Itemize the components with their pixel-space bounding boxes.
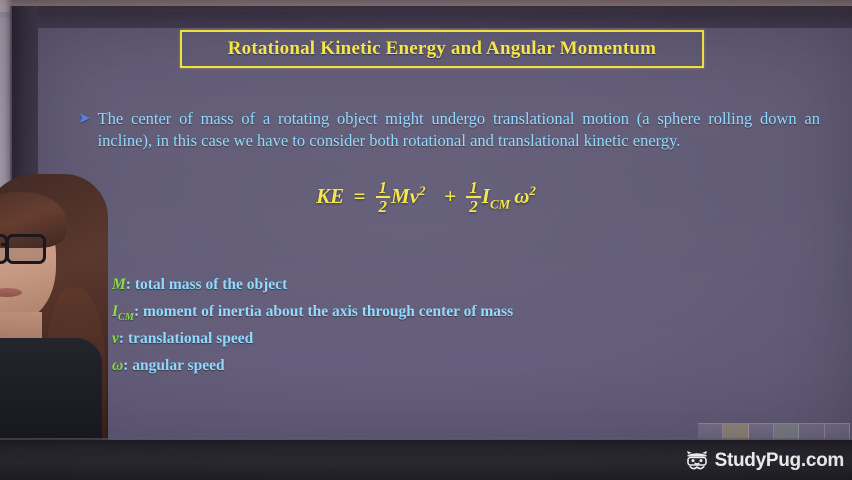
definition-separator: : bbox=[123, 357, 128, 374]
definition-separator: : bbox=[126, 276, 131, 293]
definition-description: total mass of the object bbox=[135, 276, 287, 293]
formula-lhs: KE bbox=[316, 184, 344, 208]
formula-term2-subscript: CM bbox=[490, 196, 510, 211]
bullet-arrow-icon: ➤ bbox=[78, 108, 91, 130]
definition-symbol: M bbox=[112, 276, 126, 293]
fraction-denominator: 2 bbox=[466, 196, 481, 215]
glasses-lens-right bbox=[6, 234, 46, 264]
definition-symbol-text: v bbox=[112, 330, 119, 347]
definition-description: angular speed bbox=[132, 357, 224, 374]
video-frame: Rotational Kinetic Energy and Angular Mo… bbox=[0, 0, 852, 480]
formula-omega-symbol: ω bbox=[514, 184, 529, 208]
definition-description: translational speed bbox=[128, 330, 253, 347]
presentation-board bbox=[38, 28, 852, 480]
formula-term1-exponent: 2 bbox=[419, 183, 426, 198]
definition-row: ω: angular speed bbox=[112, 356, 513, 383]
formula-term2-body: I bbox=[482, 184, 490, 208]
definition-symbol-subscript: CM bbox=[118, 312, 134, 323]
definition-row: v: translational speed bbox=[112, 329, 513, 356]
slide-title: Rotational Kinetic Energy and Angular Mo… bbox=[228, 38, 656, 60]
definition-symbol-text: ω bbox=[112, 357, 123, 374]
definition-separator: : bbox=[119, 330, 124, 347]
definition-row: ICM: moment of inertia about the axis th… bbox=[112, 302, 513, 329]
board-frame-top bbox=[10, 6, 852, 28]
bullet-paragraph: The center of mass of a rotating object … bbox=[98, 108, 820, 152]
definition-symbol-text: M bbox=[112, 276, 126, 293]
formula-plus: + bbox=[444, 184, 456, 208]
fraction-denominator: 2 bbox=[376, 196, 391, 215]
definition-symbol: v bbox=[112, 330, 119, 347]
fraction-numerator: 1 bbox=[376, 179, 391, 196]
definition-symbol: ICM bbox=[112, 303, 134, 320]
formula-fraction-one-half-a: 1 2 bbox=[376, 179, 391, 216]
definition-separator: : bbox=[134, 303, 139, 320]
watermark-text: StudyPug.com bbox=[715, 450, 844, 472]
studypug-watermark: StudyPug.com bbox=[684, 450, 844, 472]
pug-face-icon bbox=[684, 450, 710, 472]
slide-title-box: Rotational Kinetic Energy and Angular Mo… bbox=[180, 30, 704, 68]
kinetic-energy-formula: KE = 1 2 Mv2 + 1 2 ICMω2 bbox=[0, 180, 852, 217]
definition-row: M: total mass of the object bbox=[112, 275, 513, 302]
formula-fraction-one-half-b: 1 2 bbox=[466, 179, 481, 216]
formula-term1-body: Mv bbox=[391, 184, 419, 208]
glasses-icon bbox=[0, 234, 50, 260]
definition-description: moment of inertia about the axis through… bbox=[143, 303, 513, 320]
variable-definitions-list: M: total mass of the object ICM: moment … bbox=[112, 275, 513, 383]
fraction-numerator: 1 bbox=[466, 179, 481, 196]
definition-symbol: ω bbox=[112, 357, 123, 374]
formula-equals: = bbox=[353, 184, 365, 208]
formula-term2-exponent: 2 bbox=[529, 183, 536, 198]
bullet-row: ➤ The center of mass of a rotating objec… bbox=[78, 108, 820, 152]
bullet-block: ➤ The center of mass of a rotating objec… bbox=[78, 108, 820, 152]
